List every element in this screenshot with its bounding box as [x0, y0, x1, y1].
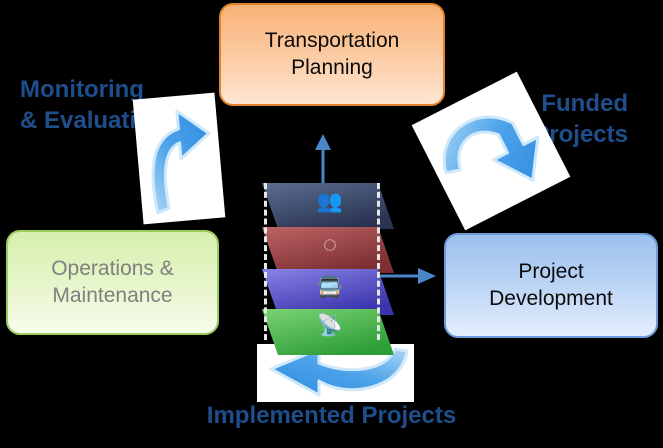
process-box-operations-maintenance[interactable]: Operations & Maintenance [6, 230, 219, 335]
curved-arrow-up-right-icon [133, 93, 226, 225]
stack-guide-line-left [264, 183, 267, 340]
label-implemented-projects: Implemented Projects [0, 400, 663, 431]
bus-and-signal-icon: 🚍 [300, 277, 360, 298]
process-box-label: Project Development [489, 259, 613, 311]
two-people-icon: 👥 [300, 191, 360, 212]
circular-seal-icon: ◌ [300, 233, 360, 257]
stack-layer-communications[interactable]: 📡 [262, 309, 394, 373]
stack-guide-line-right [377, 183, 380, 340]
process-box-project-development[interactable]: Project Development [444, 233, 658, 338]
process-box-label: Operations & Maintenance [51, 256, 174, 308]
radio-tower-icon: 📡 [300, 315, 360, 336]
diagram-canvas: Transportation Planning Operations & Mai… [0, 0, 663, 448]
layered-data-stack: 👥 ◌ [262, 183, 394, 345]
process-box-label: Transportation Planning [265, 28, 400, 80]
process-box-transportation-planning[interactable]: Transportation Planning [219, 3, 445, 106]
